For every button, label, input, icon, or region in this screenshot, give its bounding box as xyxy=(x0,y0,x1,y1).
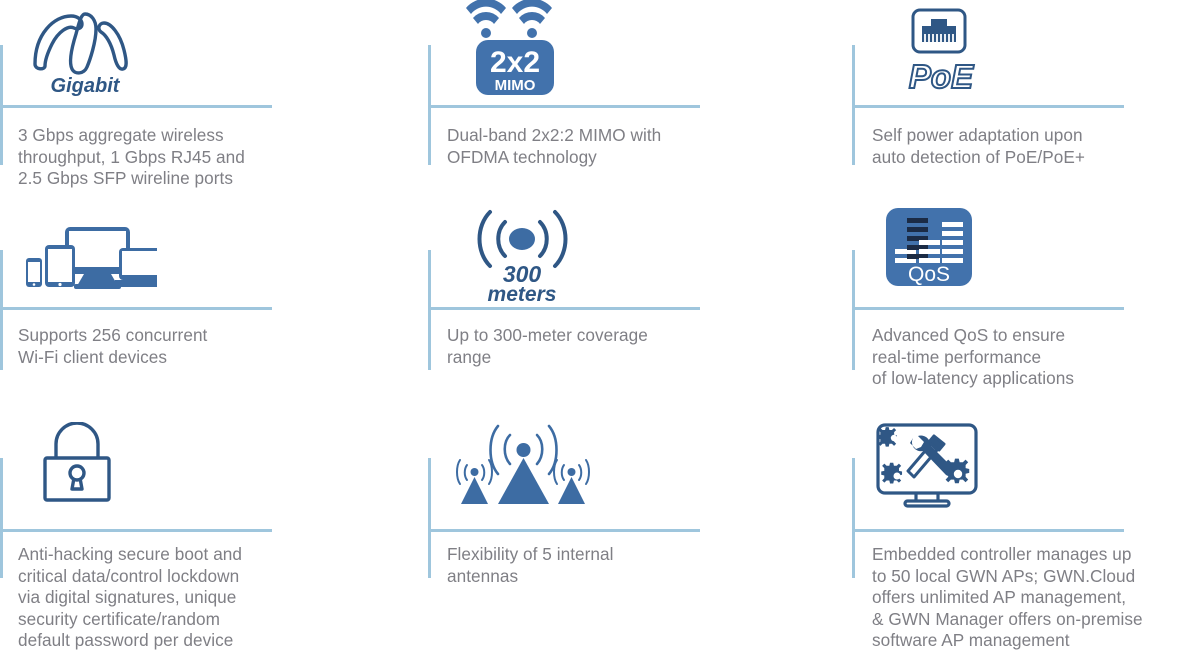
poe-rj45-port-icon: PoE xyxy=(840,0,1200,96)
antenna-towers-icon xyxy=(420,410,876,506)
feature-description: Flexibility of 5 internal antennas xyxy=(447,544,747,587)
feature-description: 3 Gbps aggregate wireless throughput, 1 … xyxy=(18,125,308,190)
feature-description: Advanced QoS to ensure real-time perform… xyxy=(872,325,1172,390)
monitor-tools-management-icon xyxy=(840,410,1200,508)
feature-card-clients: Supports 256 concurrent Wi-Fi client dev… xyxy=(0,200,420,410)
gigabit-logo-icon: Gigabit xyxy=(0,0,448,96)
feature-card-qos: QoS Advanced QoS to ensure real-time per… xyxy=(840,200,1200,410)
feature-card-mimo: 2x2 MIMO Dual-band 2x2:2 MIMO with OFDMA… xyxy=(420,0,840,200)
poe-icon-label: PoE xyxy=(909,58,974,95)
feature-card-security: Anti-hacking secure boot and critical da… xyxy=(0,410,420,660)
horizontal-divider xyxy=(0,529,272,532)
feature-description: Supports 256 concurrent Wi-Fi client dev… xyxy=(18,325,308,368)
feature-card-poe: PoE Self power adaptation upon auto dete… xyxy=(840,0,1200,200)
feature-description: Up to 300-meter coverage range xyxy=(447,325,747,368)
qos-icon-label: QoS xyxy=(908,263,950,286)
horizontal-divider xyxy=(852,105,1124,108)
feature-description: Anti-hacking secure boot and critical da… xyxy=(18,544,318,652)
horizontal-divider xyxy=(428,105,700,108)
feature-card-antennas: Flexibility of 5 internal antennas xyxy=(420,410,840,660)
horizontal-divider xyxy=(0,307,272,310)
horizontal-divider xyxy=(0,105,272,108)
feature-description: Dual-band 2x2:2 MIMO with OFDMA technolo… xyxy=(447,125,747,168)
feature-description: Embedded controller manages up to 50 loc… xyxy=(872,544,1182,652)
padlock-security-icon xyxy=(0,410,458,504)
feature-card-coverage: 300 meters Up to 300-meter coverage rang… xyxy=(420,200,840,410)
wireless-coverage-range-icon: 300 meters xyxy=(420,200,880,304)
qos-equalizer-icon: QoS xyxy=(840,200,1200,288)
horizontal-divider xyxy=(852,529,1124,532)
horizontal-divider xyxy=(428,529,700,532)
gigabit-icon-label: Gigabit xyxy=(51,75,121,96)
coverage-icon-label-bottom: meters xyxy=(488,283,557,304)
feature-grid: Gigabit 3 Gbps aggregate wireless throug… xyxy=(0,0,1200,660)
2x2-mimo-wifi-icon: 2x2 MIMO xyxy=(420,0,880,96)
feature-description: Self power adaptation upon auto detectio… xyxy=(872,125,1162,168)
mimo-icon-label-top: 2x2 xyxy=(490,46,540,79)
horizontal-divider xyxy=(852,307,1124,310)
multi-device-clients-icon xyxy=(0,200,442,290)
mimo-icon-label-bottom: MIMO xyxy=(495,77,536,94)
feature-card-gigabit: Gigabit 3 Gbps aggregate wireless throug… xyxy=(0,0,420,200)
horizontal-divider xyxy=(428,307,700,310)
feature-card-controller: Embedded controller manages up to 50 loc… xyxy=(840,410,1200,660)
